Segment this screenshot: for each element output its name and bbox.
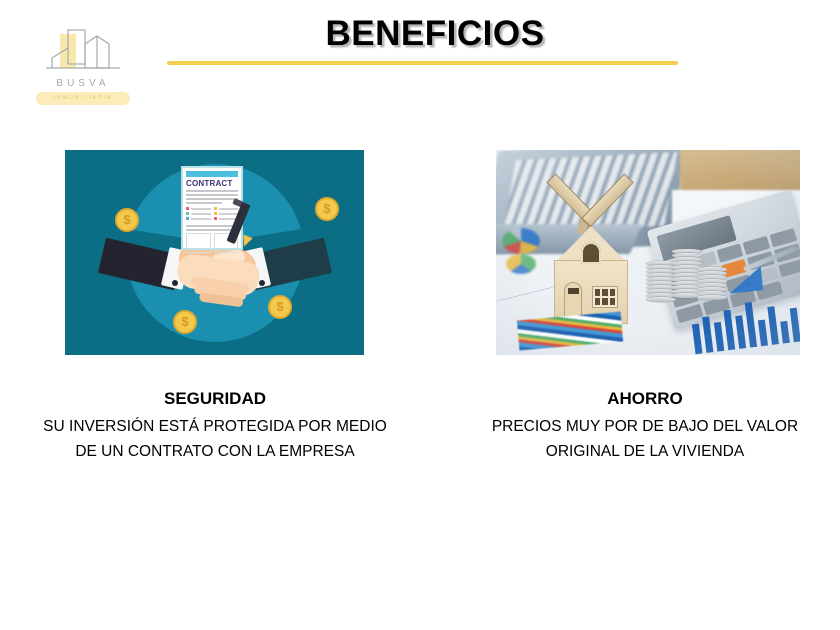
- checklist-dot-icon: [214, 217, 217, 220]
- contract-checklist-item: [214, 212, 239, 215]
- contract-checklist-item: [186, 217, 211, 220]
- cuff-button-right: [259, 280, 265, 286]
- checklist-dot-icon: [186, 217, 189, 220]
- checklist-dot-icon: [186, 207, 189, 210]
- contract-text-line: [186, 225, 238, 227]
- benefit-body-text: PRECIOS MUY POR DE BAJO DEL VALOR ORIGIN…: [460, 414, 830, 464]
- contract-checklist-column: [186, 207, 211, 222]
- title-underline-rule: [167, 61, 678, 65]
- checklist-text-line: [191, 213, 211, 215]
- cuff-button-left: [172, 280, 178, 286]
- contract-signature-box: [186, 233, 211, 253]
- checklist-dot-icon: [214, 212, 217, 215]
- benefit-heading: SEGURIDAD: [35, 386, 395, 412]
- benefit-image-ahorro: [496, 150, 800, 355]
- coin-icon: $: [115, 208, 139, 232]
- contract-checklist-item: [186, 212, 211, 215]
- benefit-image-seguridad: CONTRACT: [65, 150, 364, 355]
- checklist-text-line: [191, 208, 211, 210]
- checklist-text-line: [219, 213, 239, 215]
- checklist-dot-icon: [214, 207, 217, 210]
- building-outline-icon: [30, 28, 136, 80]
- photo-vignette: [496, 150, 800, 355]
- company-logo: BUSVA INMOBILIARIA: [30, 28, 136, 106]
- slide-canvas: BUSVA INMOBILIARIA BENEFICIOS CONTRACT: [0, 0, 840, 630]
- contract-title: CONTRACT: [186, 179, 238, 188]
- contract-text-line: [186, 190, 238, 192]
- checklist-dot-icon: [186, 212, 189, 215]
- checklist-text-line: [191, 218, 211, 220]
- benefit-body-text: SU INVERSIÓN ESTÁ PROTEGIDA POR MEDIO DE…: [35, 414, 395, 464]
- checklist-text-line: [219, 208, 239, 210]
- page-title: BENEFICIOS: [240, 14, 630, 54]
- logo-wordmark: BUSVA: [30, 78, 136, 89]
- benefit-caption-seguridad: SEGURIDAD SU INVERSIÓN ESTÁ PROTEGIDA PO…: [35, 386, 395, 464]
- contract-checklist-item: [186, 207, 211, 210]
- contract-text-line: [186, 202, 222, 204]
- logo-tagline: INMOBILIARIA: [36, 93, 130, 104]
- coin-icon: $: [173, 310, 197, 334]
- coin-icon: $: [268, 295, 292, 319]
- contract-checklist-item: [214, 207, 239, 210]
- coin-icon: $: [315, 197, 339, 221]
- benefit-caption-ahorro: AHORRO PRECIOS MUY POR DE BAJO DEL VALOR…: [460, 386, 830, 464]
- contract-header-bar: [186, 171, 238, 177]
- contract-text-line: [186, 194, 238, 196]
- contract-checklist: [186, 207, 238, 222]
- benefit-heading: AHORRO: [460, 386, 830, 412]
- contract-text-line: [186, 198, 238, 200]
